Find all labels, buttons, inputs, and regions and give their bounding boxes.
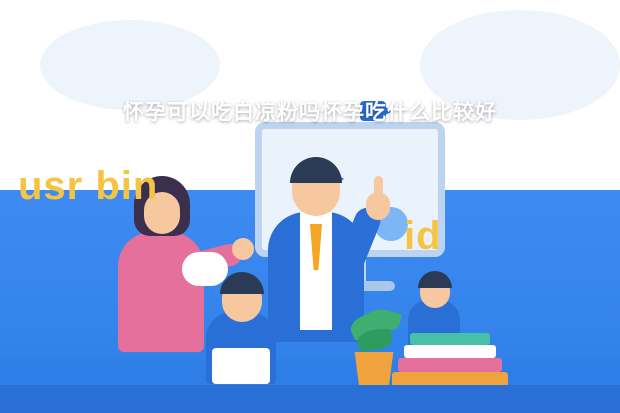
illustration-canvas: 怀孕可以吃白凉粉吗怀孕吃什么比较好 usr bin id — [0, 0, 620, 413]
tablet-device — [212, 348, 270, 384]
book-3 — [404, 345, 496, 358]
man-pointing-finger — [374, 176, 383, 198]
book-4 — [410, 333, 490, 345]
desk-band — [0, 385, 620, 413]
headline-text: 怀孕可以吃白凉粉吗怀孕吃什么比较好 — [123, 96, 497, 126]
watermark-left: usr bin — [18, 164, 158, 209]
plant-pot — [352, 352, 396, 386]
book-2 — [398, 358, 502, 372]
headline-container: 怀孕可以吃白凉粉吗怀孕吃什么比较好 — [0, 96, 620, 126]
woman-hand — [232, 238, 254, 260]
woman-body — [118, 232, 204, 352]
watermark-right: id — [404, 214, 442, 259]
speech-bubble-shape — [182, 252, 228, 286]
